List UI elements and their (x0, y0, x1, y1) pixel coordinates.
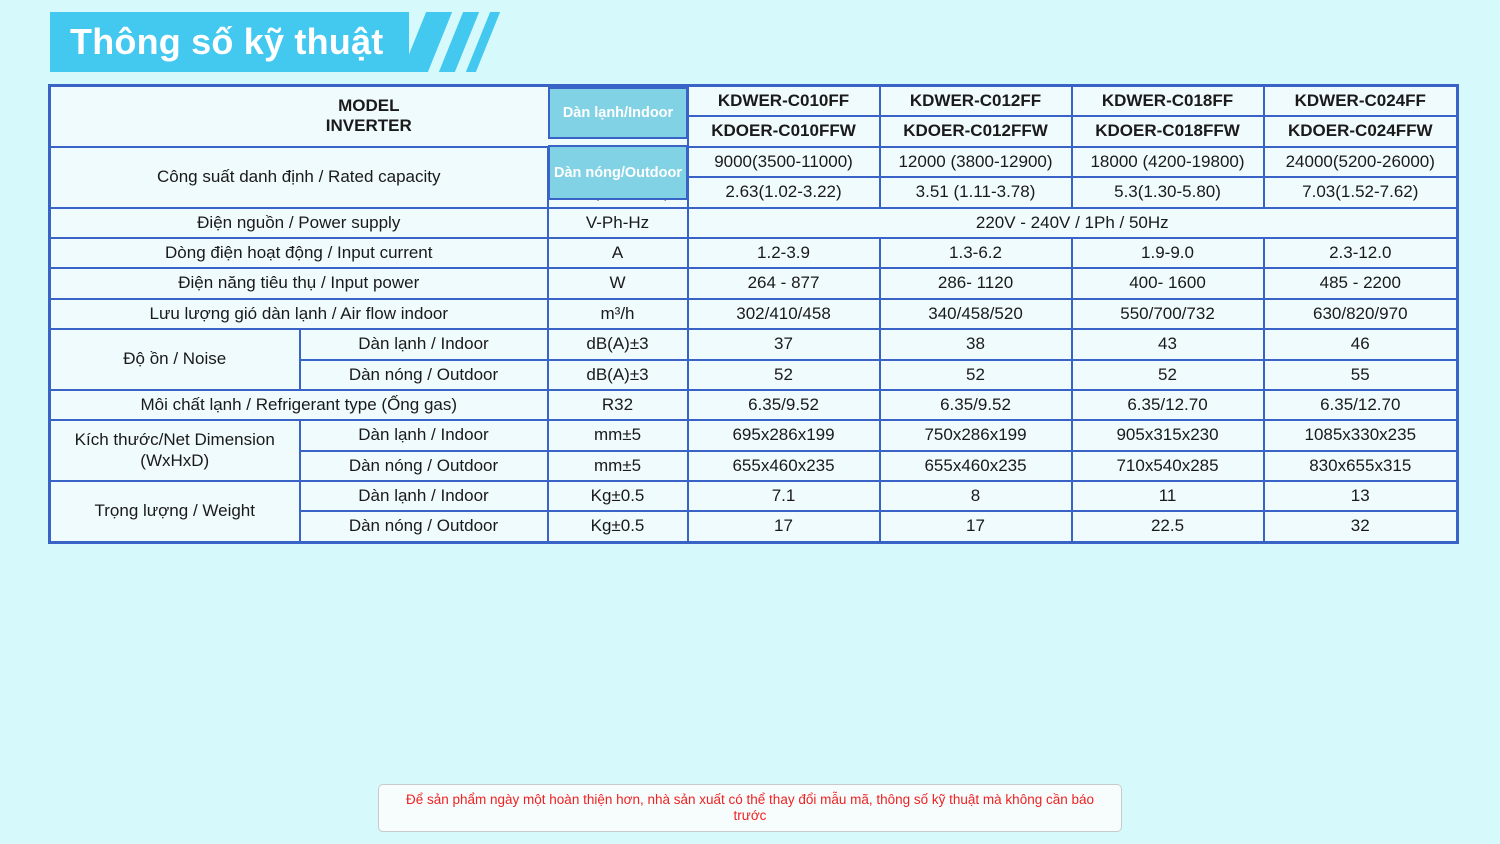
value-capacity-kw-2: 3.51 (1.11-3.78) (880, 177, 1072, 207)
model-indoor-2: KDWER-C012FF (880, 86, 1072, 117)
model-outdoor-4: KDOER-C024FFW (1264, 116, 1458, 146)
table-row-air-flow: Lưu lượng gió dàn lạnh / Air flow indoor… (50, 299, 1458, 329)
value-refrigerant-2: 6.35/9.52 (880, 390, 1072, 420)
value-input-current-3: 1.9-9.0 (1072, 238, 1264, 268)
value-noise-outdoor-3: 52 (1072, 360, 1264, 390)
header-sublabel-indoor: Dàn lạnh/Indoor (563, 105, 673, 121)
value-weight-outdoor-4: 32 (1264, 511, 1458, 542)
table-row-dimension-indoor: Kích thước/Net Dimension (WxHxD) Dàn lạn… (50, 420, 1458, 450)
value-dimension-outdoor-2: 655x460x235 (880, 451, 1072, 481)
value-noise-outdoor-2: 52 (880, 360, 1072, 390)
value-noise-outdoor-4: 55 (1264, 360, 1458, 390)
row-label-dimension: Kích thước/Net Dimension (WxHxD) (50, 420, 300, 481)
sublabel-weight-indoor: Dàn lạnh / Indoor (300, 481, 548, 511)
title-banner-body: Thông số kỹ thuật (50, 12, 409, 72)
row-label-air-flow: Lưu lượng gió dàn lạnh / Air flow indoor (50, 299, 548, 329)
unit-weight-outdoor: Kg±0.5 (548, 511, 688, 542)
value-weight-outdoor-2: 17 (880, 511, 1072, 542)
value-power-supply: 220V - 240V / 1Ph / 50Hz (688, 208, 1458, 238)
value-dimension-outdoor-1: 655x460x235 (688, 451, 880, 481)
model-indoor-4: KDWER-C024FF (1264, 86, 1458, 117)
value-weight-indoor-1: 7.1 (688, 481, 880, 511)
value-weight-indoor-4: 13 (1264, 481, 1458, 511)
sublabel-weight-outdoor: Dàn nóng / Outdoor (300, 511, 548, 542)
table-header-row-indoor: MODEL INVERTER KDWER-C010FF KDWER-C012FF… (50, 86, 1458, 117)
value-input-current-1: 1.2-3.9 (688, 238, 880, 268)
table-row-weight-indoor: Trọng lượng / Weight Dàn lạnh / Indoor K… (50, 481, 1458, 511)
unit-weight-indoor: Kg±0.5 (548, 481, 688, 511)
value-capacity-btu-1: 9000(3500-11000) (688, 147, 880, 177)
model-outdoor-2: KDOER-C012FFW (880, 116, 1072, 146)
sublabel-noise-outdoor: Dàn nóng / Outdoor (300, 360, 548, 390)
unit-dimension-indoor: mm±5 (548, 420, 688, 450)
value-capacity-kw-4: 7.03(1.52-7.62) (1264, 177, 1458, 207)
value-dimension-indoor-4: 1085x330x235 (1264, 420, 1458, 450)
value-input-power-4: 485 - 2200 (1264, 268, 1458, 298)
model-outdoor-1: KDOER-C010FFW (688, 116, 880, 146)
value-weight-indoor-3: 11 (1072, 481, 1264, 511)
value-dimension-indoor-1: 695x286x199 (688, 420, 880, 450)
title-banner: Thông số kỹ thuật (50, 12, 488, 72)
value-refrigerant-1: 6.35/9.52 (688, 390, 880, 420)
value-air-flow-1: 302/410/458 (688, 299, 880, 329)
row-label-power-supply: Điện nguồn / Power supply (50, 208, 548, 238)
unit-input-power: W (548, 268, 688, 298)
row-label-refrigerant: Môi chất lạnh / Refrigerant type (Ống ga… (50, 390, 548, 420)
page-title: Thông số kỹ thuật (70, 24, 383, 60)
value-air-flow-3: 550/700/732 (1072, 299, 1264, 329)
value-dimension-indoor-2: 750x286x199 (880, 420, 1072, 450)
value-noise-outdoor-1: 52 (688, 360, 880, 390)
value-dimension-outdoor-3: 710x540x285 (1072, 451, 1264, 481)
row-label-noise: Độ ồn / Noise (50, 329, 300, 390)
header-sublabel-outdoor-cell: Dàn nóng/Outdoor (548, 145, 688, 200)
model-indoor-1: KDWER-C010FF (688, 86, 880, 117)
spec-table-container: MODEL INVERTER KDWER-C010FF KDWER-C012FF… (48, 84, 1456, 544)
unit-power-supply: V-Ph-Hz (548, 208, 688, 238)
header-sublabel-indoor-cell: Dàn lạnh/Indoor (548, 87, 688, 139)
unit-refrigerant: R32 (548, 390, 688, 420)
sublabel-noise-indoor: Dàn lạnh / Indoor (300, 329, 548, 359)
value-weight-outdoor-1: 17 (688, 511, 880, 542)
row-label-input-power: Điện năng tiêu thụ / Input power (50, 268, 548, 298)
unit-input-current: A (548, 238, 688, 268)
value-weight-outdoor-3: 22.5 (1072, 511, 1264, 542)
value-weight-indoor-2: 8 (880, 481, 1072, 511)
model-outdoor-3: KDOER-C018FFW (1072, 116, 1264, 146)
value-capacity-kw-3: 5.3(1.30-5.80) (1072, 177, 1264, 207)
sublabel-dimension-indoor: Dàn lạnh / Indoor (300, 420, 548, 450)
value-input-power-3: 400- 1600 (1072, 268, 1264, 298)
value-input-current-4: 2.3-12.0 (1264, 238, 1458, 268)
header-sublabel-outdoor: Dàn nóng/Outdoor (554, 165, 682, 181)
value-capacity-kw-1: 2.63(1.02-3.22) (688, 177, 880, 207)
table-row-power-supply: Điện nguồn / Power supply V-Ph-Hz 220V -… (50, 208, 1458, 238)
value-noise-indoor-1: 37 (688, 329, 880, 359)
table-row-input-current: Dòng điện hoạt động / Input current A 1.… (50, 238, 1458, 268)
value-refrigerant-3: 6.35/12.70 (1072, 390, 1264, 420)
value-air-flow-4: 630/820/970 (1264, 299, 1458, 329)
value-noise-indoor-3: 43 (1072, 329, 1264, 359)
value-input-current-2: 1.3-6.2 (880, 238, 1072, 268)
row-label-input-current: Dòng điện hoạt động / Input current (50, 238, 548, 268)
table-row-rated-capacity-btu: Công suất danh định / Rated capacity Btu… (50, 147, 1458, 177)
specifications-table: MODEL INVERTER KDWER-C010FF KDWER-C012FF… (48, 84, 1459, 544)
value-input-power-2: 286- 1120 (880, 268, 1072, 298)
unit-air-flow: m³/h (548, 299, 688, 329)
disclaimer-note: Để sản phẩm ngày một hoàn thiện hơn, nhà… (378, 784, 1122, 832)
unit-noise-indoor: dB(A)±3 (548, 329, 688, 359)
unit-dimension-outdoor: mm±5 (548, 451, 688, 481)
unit-noise-outdoor: dB(A)±3 (548, 360, 688, 390)
row-label-rated-capacity: Công suất danh định / Rated capacity (50, 147, 548, 208)
model-indoor-3: KDWER-C018FF (1072, 86, 1264, 117)
value-input-power-1: 264 - 877 (688, 268, 880, 298)
value-air-flow-2: 340/458/520 (880, 299, 1072, 329)
sublabel-dimension-outdoor: Dàn nóng / Outdoor (300, 451, 548, 481)
banner-stripe-group (407, 12, 488, 72)
value-refrigerant-4: 6.35/12.70 (1264, 390, 1458, 420)
row-label-weight: Trọng lượng / Weight (50, 481, 300, 542)
value-noise-indoor-2: 38 (880, 329, 1072, 359)
table-row-input-power: Điện năng tiêu thụ / Input power W 264 -… (50, 268, 1458, 298)
value-capacity-btu-2: 12000 (3800-12900) (880, 147, 1072, 177)
value-dimension-indoor-3: 905x315x230 (1072, 420, 1264, 450)
value-capacity-btu-4: 24000(5200-26000) (1264, 147, 1458, 177)
value-capacity-btu-3: 18000 (4200-19800) (1072, 147, 1264, 177)
value-noise-indoor-4: 46 (1264, 329, 1458, 359)
table-row-refrigerant: Môi chất lạnh / Refrigerant type (Ống ga… (50, 390, 1458, 420)
value-dimension-outdoor-4: 830x655x315 (1264, 451, 1458, 481)
table-row-noise-indoor: Độ ồn / Noise Dàn lạnh / Indoor dB(A)±3 … (50, 329, 1458, 359)
